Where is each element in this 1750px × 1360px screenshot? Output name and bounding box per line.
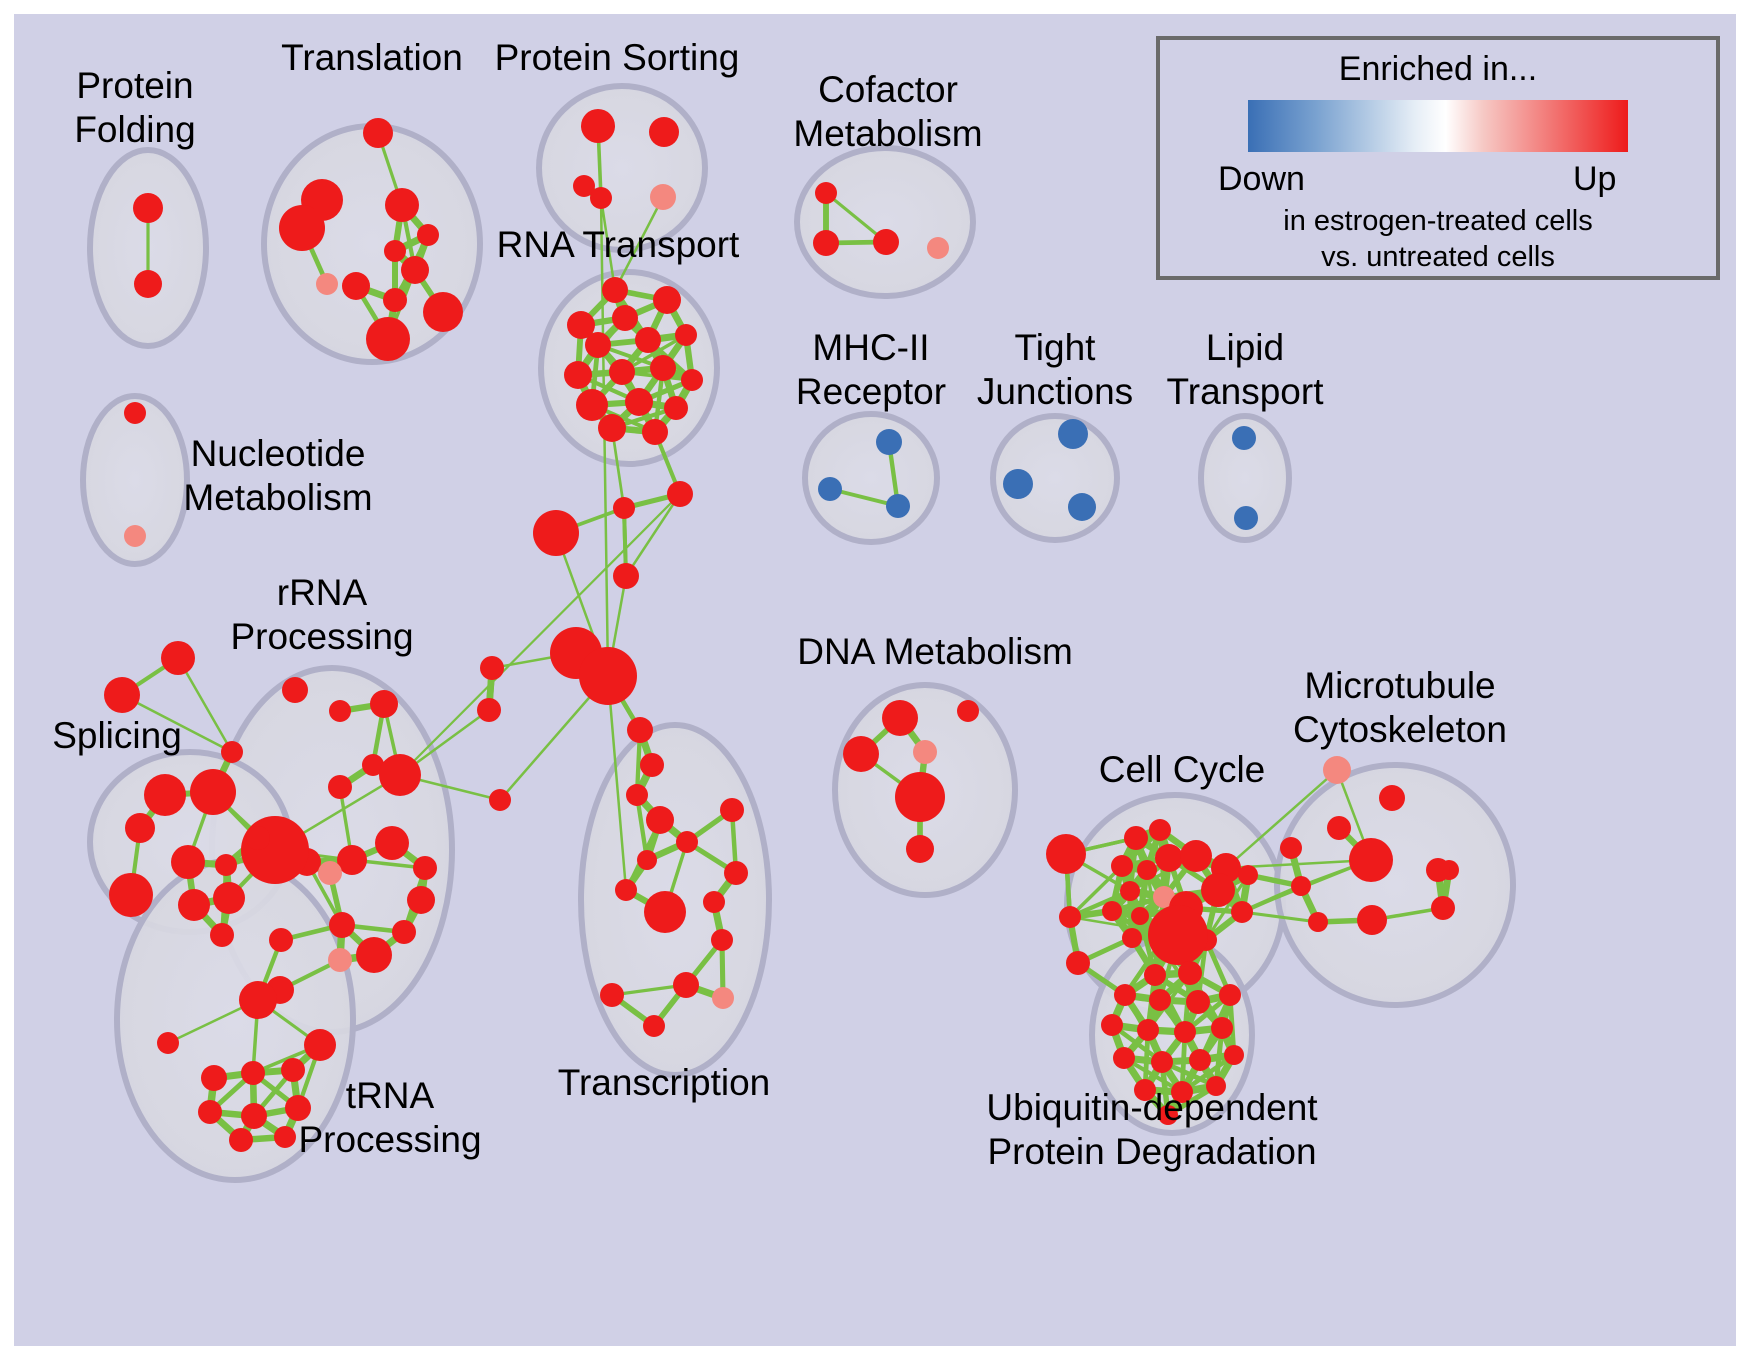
network-node [239,981,277,1019]
network-node [241,1103,267,1129]
network-node [1149,819,1171,841]
network-node [329,700,351,722]
network-node [423,292,463,332]
network-node [1120,881,1140,901]
network-node [667,481,693,507]
network-node [1357,905,1387,935]
network-node [1349,838,1393,882]
network-node [1323,756,1351,784]
legend-up-label: Up [1573,160,1616,198]
network-node [221,741,243,763]
network-node [125,813,155,843]
enrichment-network-figure: ProteinFoldingTranslationProtein Sorting… [0,0,1750,1360]
network-node [274,1126,296,1148]
network-node [1113,1047,1135,1069]
network-node [609,359,635,385]
network-node [579,647,637,705]
network-node [1101,1014,1123,1036]
network-node [1066,951,1090,975]
network-node [124,525,146,547]
network-node [564,361,592,389]
network-node [178,889,210,921]
cluster-label-dna-metabolism: DNA Metabolism [797,631,1073,672]
network-node [576,389,608,421]
network-node [1180,840,1212,872]
network-node [385,188,419,222]
network-canvas: ProteinFoldingTranslationProtein Sorting… [0,0,1750,1360]
network-node [876,429,902,455]
network-node [1131,907,1149,925]
network-node [1327,816,1351,840]
network-node [711,929,733,951]
network-node [318,861,342,885]
network-node [407,886,435,914]
network-node [417,224,439,246]
network-node [477,698,501,722]
legend-down-label: Down [1218,160,1305,198]
network-node [703,891,725,913]
network-node [124,402,146,424]
network-node [241,816,309,884]
network-node [602,277,628,303]
network-node [363,118,393,148]
network-node [1137,860,1157,880]
network-node [598,414,626,442]
network-node [1059,906,1081,928]
network-node [384,240,406,262]
network-node [342,272,370,300]
network-node [379,754,421,796]
network-node [1211,1017,1233,1039]
network-node [213,882,245,914]
network-node [370,690,398,718]
cluster-label-translation: Translation [281,37,463,78]
network-node [640,753,664,777]
network-node [144,774,186,816]
network-node [906,835,934,863]
network-node [328,775,352,799]
network-node [637,850,657,870]
network-node [1291,876,1311,896]
network-node [1124,826,1148,850]
network-node [818,477,842,501]
network-node [1111,855,1133,877]
network-node [1174,1021,1196,1043]
network-node [712,987,734,1009]
network-node [392,920,416,944]
network-node [401,256,429,284]
network-node [644,891,686,933]
network-node [1186,990,1210,1014]
network-node [815,182,837,204]
network-node [109,873,153,917]
cluster-label-protein-sorting: Protein Sorting [495,37,740,78]
network-node [635,327,661,353]
network-node [653,286,681,314]
network-node [720,798,744,822]
network-node [489,789,511,811]
network-node [1224,1045,1244,1065]
network-node [533,510,579,556]
cluster-hull-mhc-ii-receptor [805,414,937,542]
network-node [1308,912,1328,932]
network-node [882,700,918,736]
network-node [613,563,639,589]
network-node [585,332,611,358]
network-node [625,388,653,416]
network-node [927,237,949,259]
network-node [1003,469,1033,499]
network-node [1189,1049,1211,1071]
network-node [649,117,679,147]
network-node [241,1061,265,1085]
network-node [612,305,638,331]
network-node [1151,1051,1173,1073]
network-node [895,772,945,822]
network-node [1102,901,1122,921]
network-node [316,273,338,295]
network-node [642,419,668,445]
network-node [681,369,703,391]
network-node [383,288,407,312]
network-node [304,1029,336,1061]
network-node [600,983,624,1007]
network-node [281,1058,305,1082]
network-node [1178,961,1202,985]
legend-title: Enriched in... [1339,50,1537,88]
network-node [215,854,237,876]
network-node [198,1100,222,1124]
cluster-label-cell-cycle: Cell Cycle [1099,749,1266,790]
network-node [246,826,270,850]
network-node [676,831,698,853]
network-node [285,1095,311,1121]
network-node [104,677,140,713]
network-node [328,948,352,972]
network-node [1137,1019,1159,1041]
network-node [673,972,699,998]
network-node [615,879,637,901]
network-node [279,205,325,251]
network-node [675,324,697,346]
network-node [269,928,293,952]
network-node [171,845,205,879]
cluster-label-rna-transport: RNA Transport [497,224,740,265]
network-node [329,912,355,938]
network-node [1431,896,1455,920]
network-node [1231,901,1253,923]
network-node [1280,837,1302,859]
network-node [1122,928,1142,948]
network-node [843,736,879,772]
network-node [201,1065,227,1091]
network-node [210,923,234,947]
network-node [1046,834,1086,874]
legend-color-bar [1248,100,1628,152]
network-node [133,193,163,223]
cluster-label-transcription: Transcription [558,1062,770,1103]
network-node [134,270,162,298]
legend-panel: Enriched in... Down Up in estrogen-treat… [1158,38,1718,278]
network-node [1148,905,1208,965]
network-node [1426,858,1450,882]
network-node [957,700,979,722]
network-node [1149,989,1171,1011]
network-node [724,861,748,885]
network-node [366,317,410,361]
network-node [229,1128,253,1152]
network-node [913,740,937,764]
network-node [1234,506,1258,530]
legend-caption-line1: in estrogen-treated cells [1283,205,1593,237]
network-node [1219,984,1241,1006]
network-node [282,677,308,703]
network-node [157,1032,179,1054]
network-node [1068,493,1096,521]
network-node [1201,873,1235,907]
network-node [646,806,674,834]
network-node [1379,785,1405,811]
network-node [190,769,236,815]
network-node [413,856,437,880]
network-node [356,937,392,973]
network-node [813,230,839,256]
network-node [650,355,676,381]
network-node [627,717,653,743]
cluster-label-splicing: Splicing [52,715,182,756]
network-node [1155,844,1183,872]
network-node [375,826,409,860]
network-node [613,497,635,519]
network-node [1058,419,1088,449]
network-node [480,656,504,680]
network-node [664,396,688,420]
network-node [581,109,615,143]
network-node [1144,964,1166,986]
network-node [1232,426,1256,450]
network-node [1114,984,1136,1006]
network-node [161,641,195,675]
network-node [886,494,910,518]
network-node [626,784,648,806]
network-node [643,1015,665,1037]
network-node [873,229,899,255]
network-node [590,187,612,209]
network-node [1238,865,1258,885]
network-node [650,184,676,210]
legend-caption-line2: vs. untreated cells [1321,241,1555,273]
